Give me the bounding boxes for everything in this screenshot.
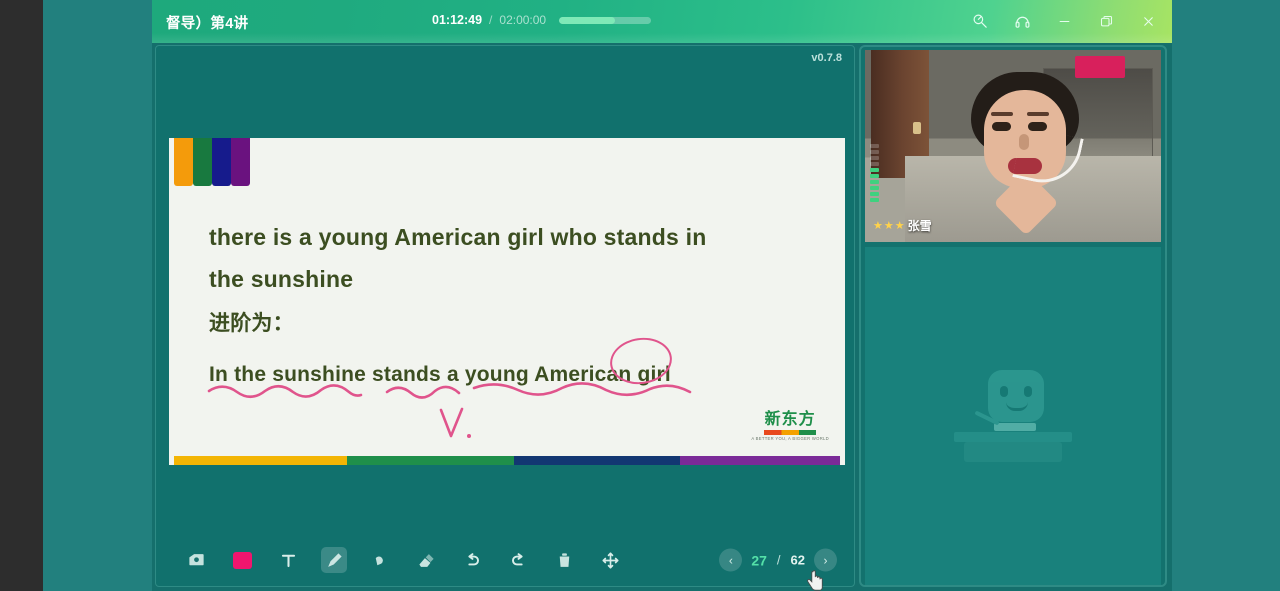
next-page-button[interactable]: › xyxy=(814,549,837,572)
annotation-toolbar: ‹ 27 / 62 › xyxy=(169,540,845,580)
accent-bar-navy xyxy=(212,138,231,186)
mascot-book xyxy=(994,423,1036,431)
version-badge: v0.7.8 xyxy=(811,52,842,64)
audio-level-bar xyxy=(870,156,879,160)
undo-tool[interactable] xyxy=(459,547,485,573)
slide-text-block: there is a young American girl who stand… xyxy=(209,216,817,390)
window-controls xyxy=(966,0,1162,43)
footer-bar-yellow xyxy=(174,456,347,465)
teacher-name-badge: ★★★ 张雪 xyxy=(873,217,932,234)
tools-icon[interactable] xyxy=(966,8,994,36)
audio-level-bar xyxy=(870,150,879,154)
door-knob xyxy=(913,122,921,134)
timer-total: 02:00:00 xyxy=(499,13,546,27)
audio-level-bar xyxy=(870,144,879,148)
pen-tool[interactable] xyxy=(321,547,347,573)
color-swatch-chip xyxy=(233,552,252,569)
slide-line-cn: 进阶为： xyxy=(209,302,817,346)
mascot-icon xyxy=(954,368,1072,464)
mascot-head xyxy=(988,370,1044,422)
desktop-left-strip xyxy=(0,0,43,591)
color-swatch[interactable] xyxy=(229,547,255,573)
timer-separator: / xyxy=(489,13,492,27)
total-page-count: 62 xyxy=(791,553,805,568)
teacher-figure xyxy=(951,72,1101,242)
accent-bar-green xyxy=(193,138,212,186)
eyebrow-right xyxy=(1027,112,1049,116)
audio-level-bar xyxy=(870,192,879,196)
student-video-placeholder[interactable] xyxy=(865,247,1161,585)
page-navigator: ‹ 27 / 62 › xyxy=(719,549,837,572)
minimize-icon[interactable] xyxy=(1050,8,1078,36)
shape-tool[interactable] xyxy=(367,547,393,573)
timer-elapsed: 01:12:49 xyxy=(432,13,482,27)
slide-line-en-1: there is a young American girl who stand… xyxy=(209,216,817,258)
audio-level-bar xyxy=(870,162,879,166)
accent-bar-orange xyxy=(174,138,193,186)
footer-bar-purple xyxy=(680,456,840,465)
slide-line-en-2: the sunshine xyxy=(209,258,817,300)
stage: v0.7.8 there is a young American girl wh… xyxy=(152,43,1172,591)
slide-line-en-3: In the sunshine stands a young American … xyxy=(209,360,817,390)
teacher-name: 张雪 xyxy=(908,217,932,234)
window-title: 督导）第4讲 xyxy=(166,12,248,33)
brand-logo-bar xyxy=(764,430,816,435)
select-tool[interactable] xyxy=(183,547,209,573)
audio-level-bar xyxy=(870,198,879,202)
brand-logo-cn: 新东方 xyxy=(751,412,829,428)
audio-level-meter xyxy=(870,144,879,202)
mascot-desk-body xyxy=(964,442,1062,462)
video-column: ★★★ 张雪 xyxy=(859,45,1167,587)
application-window: 督导）第4讲 01:12:49 / 02:00:00 xyxy=(152,0,1172,591)
current-page-number: 27 xyxy=(751,552,767,568)
prev-page-button[interactable]: ‹ xyxy=(719,549,742,572)
brand-logo: 新东方 A BETTER YOU, A BIGGER WORLD xyxy=(751,412,829,441)
restore-icon[interactable] xyxy=(1092,8,1120,36)
close-icon[interactable] xyxy=(1134,8,1162,36)
accent-bar-purple xyxy=(231,138,250,186)
audio-level-bar xyxy=(870,174,879,178)
slide-accent-bars xyxy=(174,138,250,186)
audio-level-bar xyxy=(870,168,879,172)
screen: 督导）第4讲 01:12:49 / 02:00:00 xyxy=(0,0,1280,591)
footer-bar-navy xyxy=(514,456,681,465)
audio-level-bar xyxy=(870,186,879,190)
title-bar: 督导）第4讲 01:12:49 / 02:00:00 xyxy=(152,0,1172,43)
delete-tool[interactable] xyxy=(551,547,577,573)
class-timer: 01:12:49 / 02:00:00 xyxy=(432,13,651,27)
timer-progress-bar xyxy=(559,17,651,24)
brand-logo-tagline: A BETTER YOU, A BIGGER WORLD xyxy=(751,436,829,441)
teacher-video-tile[interactable]: ★★★ 张雪 xyxy=(865,50,1161,242)
slide-footer-bars xyxy=(174,456,840,465)
eyebrow-left xyxy=(991,112,1013,116)
page-separator: / xyxy=(777,553,781,568)
audio-level-bar xyxy=(870,180,879,184)
mascot-eye-left xyxy=(1000,386,1008,397)
whiteboard-panel: v0.7.8 there is a young American girl wh… xyxy=(155,45,855,587)
footer-bar-green xyxy=(347,456,514,465)
move-tool[interactable] xyxy=(597,547,623,573)
mascot-desk xyxy=(954,432,1072,442)
redo-tool[interactable] xyxy=(505,547,531,573)
tool-group xyxy=(169,547,623,573)
text-tool[interactable] xyxy=(275,547,301,573)
mascot-eye-right xyxy=(1024,386,1032,397)
timer-progress-fill xyxy=(559,17,615,24)
star-icon: ★★★ xyxy=(873,219,906,232)
eraser-tool[interactable] xyxy=(413,547,439,573)
headset-icon[interactable] xyxy=(1008,8,1036,36)
eye-left xyxy=(992,122,1011,131)
slide-canvas[interactable]: there is a young American girl who stand… xyxy=(169,138,845,465)
